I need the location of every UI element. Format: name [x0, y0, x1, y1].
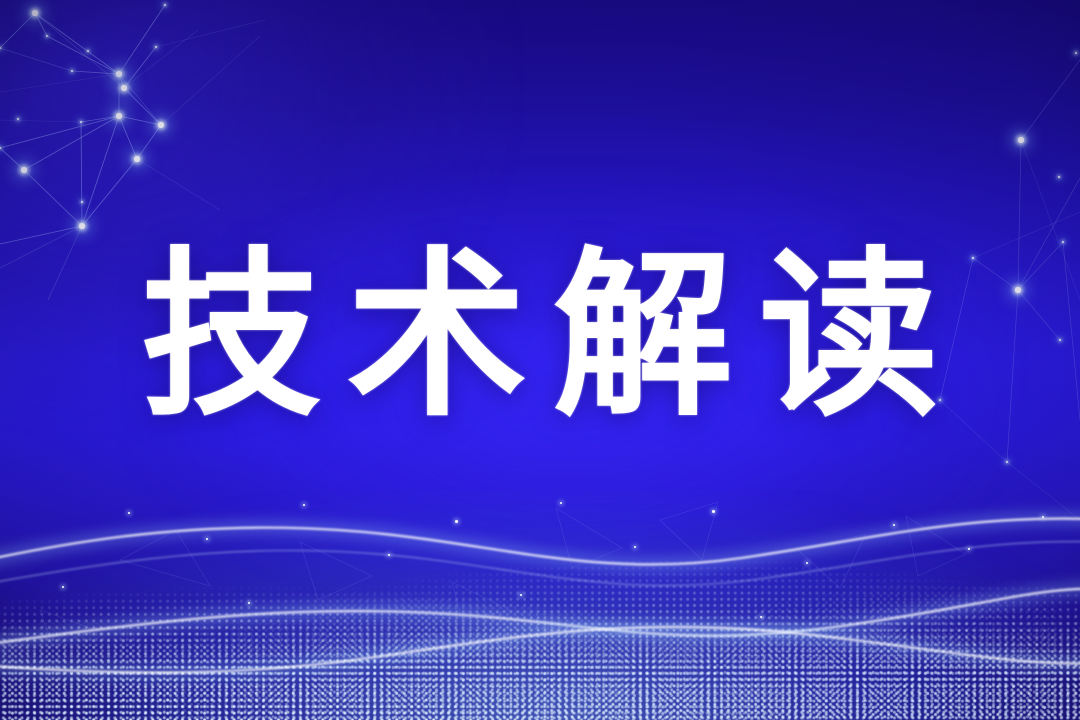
banner-canvas: 技术解读: [0, 0, 1080, 720]
particle-wave-icon: [0, 490, 1080, 720]
banner-title: 技术解读: [115, 247, 965, 427]
title-container: 技术解读: [0, 247, 1080, 427]
wave-ribbon-crest: [0, 552, 1080, 702]
